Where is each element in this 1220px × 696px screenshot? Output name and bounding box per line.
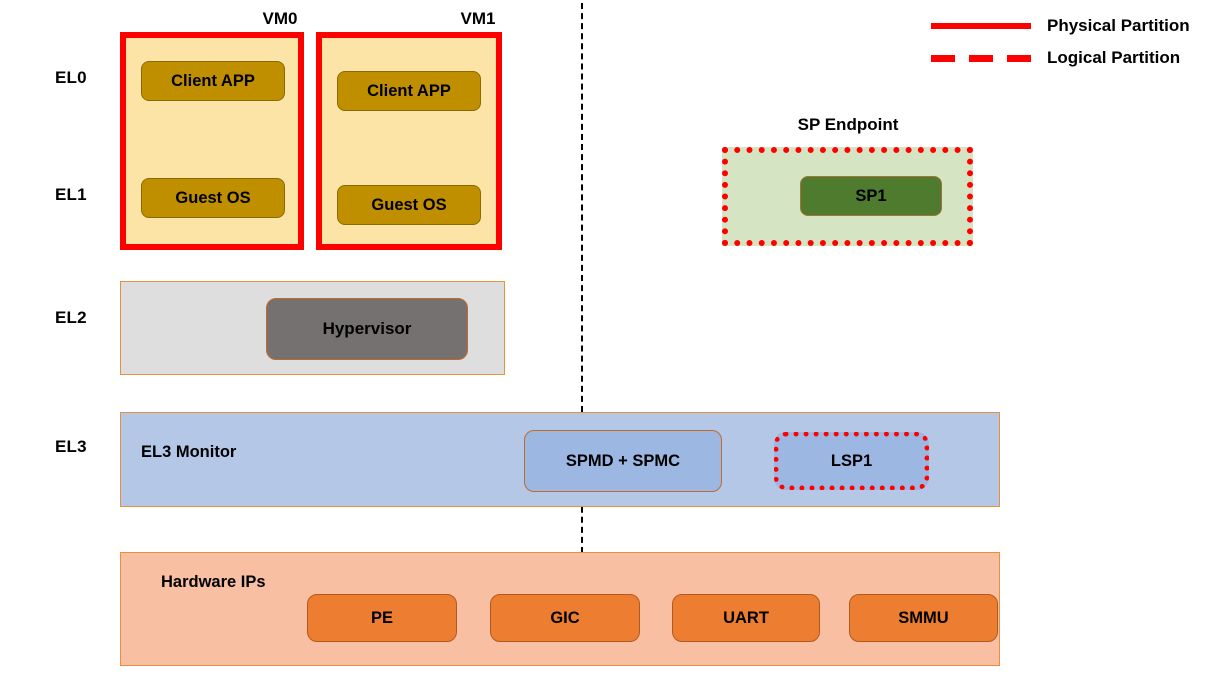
vm0-client-app[interactable]: Client APP (141, 61, 285, 101)
legend-solid-line-icon (931, 23, 1031, 29)
spmd-spmc-box[interactable]: SPMD + SPMC (524, 430, 722, 492)
sp1-box[interactable]: SP1 (800, 176, 942, 216)
hardware-row: Hardware IPs PE GIC UART SMMU (120, 552, 1000, 666)
hardware-ip-uart[interactable]: UART (672, 594, 820, 642)
sp-endpoint-caption: SP Endpoint (763, 115, 933, 135)
hardware-ips-title: Hardware IPs (161, 573, 266, 592)
hardware-ip-gic[interactable]: GIC (490, 594, 640, 642)
legend-item-physical-partition: Physical Partition (931, 16, 1190, 36)
level-label-el2: EL2 (55, 308, 87, 328)
vm1-caption: VM1 (398, 9, 558, 29)
hardware-ip-smmu[interactable]: SMMU (849, 594, 998, 642)
hypervisor-box[interactable]: Hypervisor (266, 298, 468, 360)
lsp1-box[interactable]: LSP1 (774, 432, 929, 490)
level-label-el3: EL3 (55, 437, 87, 457)
vm0-partition[interactable]: Client APP Guest OS (120, 32, 304, 250)
vm0-guest-os[interactable]: Guest OS (141, 178, 285, 218)
legend-item-logical-partition: Logical Partition (931, 48, 1180, 68)
legend-dashed-line-icon (931, 55, 1031, 62)
level-label-el1: EL1 (55, 185, 87, 205)
vm1-partition[interactable]: Client APP Guest OS (316, 32, 502, 250)
vm1-client-app[interactable]: Client APP (337, 71, 481, 111)
el2-row: Hypervisor (120, 281, 505, 375)
el3-row: EL3 Monitor SPMD + SPMC LSP1 (120, 412, 1000, 507)
sp-endpoint-partition[interactable]: SP1 (722, 147, 973, 246)
vm1-guest-os[interactable]: Guest OS (337, 185, 481, 225)
level-label-el0: EL0 (55, 68, 87, 88)
architecture-diagram: EL0 EL1 EL2 EL3 VM0 Client APP Guest OS … (0, 0, 1220, 696)
vm0-caption: VM0 (200, 9, 360, 29)
legend-label-physical-partition: Physical Partition (1047, 16, 1190, 36)
legend-label-logical-partition: Logical Partition (1047, 48, 1180, 68)
el3-monitor-title: EL3 Monitor (141, 443, 236, 462)
hardware-ip-pe[interactable]: PE (307, 594, 457, 642)
